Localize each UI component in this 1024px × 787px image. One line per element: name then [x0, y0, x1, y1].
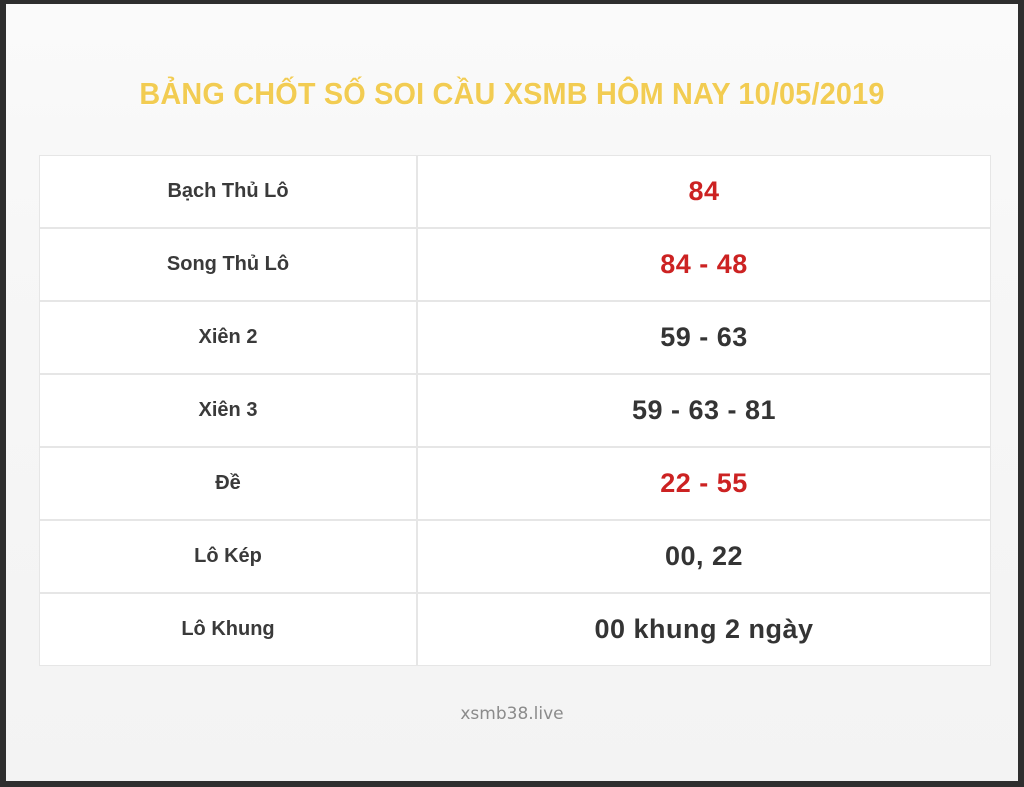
table-row: Đề22 - 55: [39, 447, 991, 520]
prediction-table: Bạch Thủ Lô84Song Thủ Lô84 - 48Xiên 259 …: [39, 155, 991, 666]
page-title: BẢNG CHỐT SỐ SOI CẦU XSMB HÔM NAY 10/05/…: [41, 76, 982, 112]
table-row: Lô Khung00 khung 2 ngày: [39, 593, 991, 666]
row-label-cell: Bạch Thủ Lô: [39, 155, 417, 228]
table-row: Xiên 359 - 63 - 81: [39, 374, 991, 447]
site-watermark: xsmb38.live: [6, 704, 1018, 724]
row-label: Lô Khung: [181, 618, 274, 640]
row-label: Song Thủ Lô: [167, 253, 289, 275]
row-label-cell: Đề: [39, 447, 417, 520]
table-row: Bạch Thủ Lô84: [39, 155, 991, 228]
table-row: Xiên 259 - 63: [39, 301, 991, 374]
row-label: Xiên 2: [199, 326, 258, 348]
row-value: 00 khung 2 ngày: [594, 614, 813, 644]
row-value: 22 - 55: [660, 468, 748, 498]
row-value-cell: 00 khung 2 ngày: [417, 593, 991, 666]
row-label: Đề: [215, 472, 241, 494]
row-label-cell: Xiên 3: [39, 374, 417, 447]
page-frame: BẢNG CHỐT SỐ SOI CẦU XSMB HÔM NAY 10/05/…: [0, 0, 1024, 787]
row-label: Xiên 3: [199, 399, 258, 421]
table-row: Lô Kép00, 22: [39, 520, 991, 593]
prediction-table-body: Bạch Thủ Lô84Song Thủ Lô84 - 48Xiên 259 …: [39, 155, 991, 666]
row-value: 59 - 63: [660, 322, 748, 352]
row-value: 00, 22: [665, 541, 743, 571]
row-value-cell: 59 - 63 - 81: [417, 374, 991, 447]
row-value-cell: 59 - 63: [417, 301, 991, 374]
row-value: 84: [688, 176, 719, 206]
row-label: Bạch Thủ Lô: [167, 180, 288, 202]
row-value-cell: 00, 22: [417, 520, 991, 593]
row-label-cell: Song Thủ Lô: [39, 228, 417, 301]
row-value-cell: 84: [417, 155, 991, 228]
row-label-cell: Lô Khung: [39, 593, 417, 666]
row-value-cell: 22 - 55: [417, 447, 991, 520]
row-value: 84 - 48: [660, 249, 748, 279]
row-label-cell: Lô Kép: [39, 520, 417, 593]
row-label: Lô Kép: [194, 545, 262, 567]
page-canvas: BẢNG CHỐT SỐ SOI CẦU XSMB HÔM NAY 10/05/…: [6, 4, 1018, 781]
row-label-cell: Xiên 2: [39, 301, 417, 374]
table-row: Song Thủ Lô84 - 48: [39, 228, 991, 301]
row-value-cell: 84 - 48: [417, 228, 991, 301]
row-value: 59 - 63 - 81: [632, 395, 776, 425]
